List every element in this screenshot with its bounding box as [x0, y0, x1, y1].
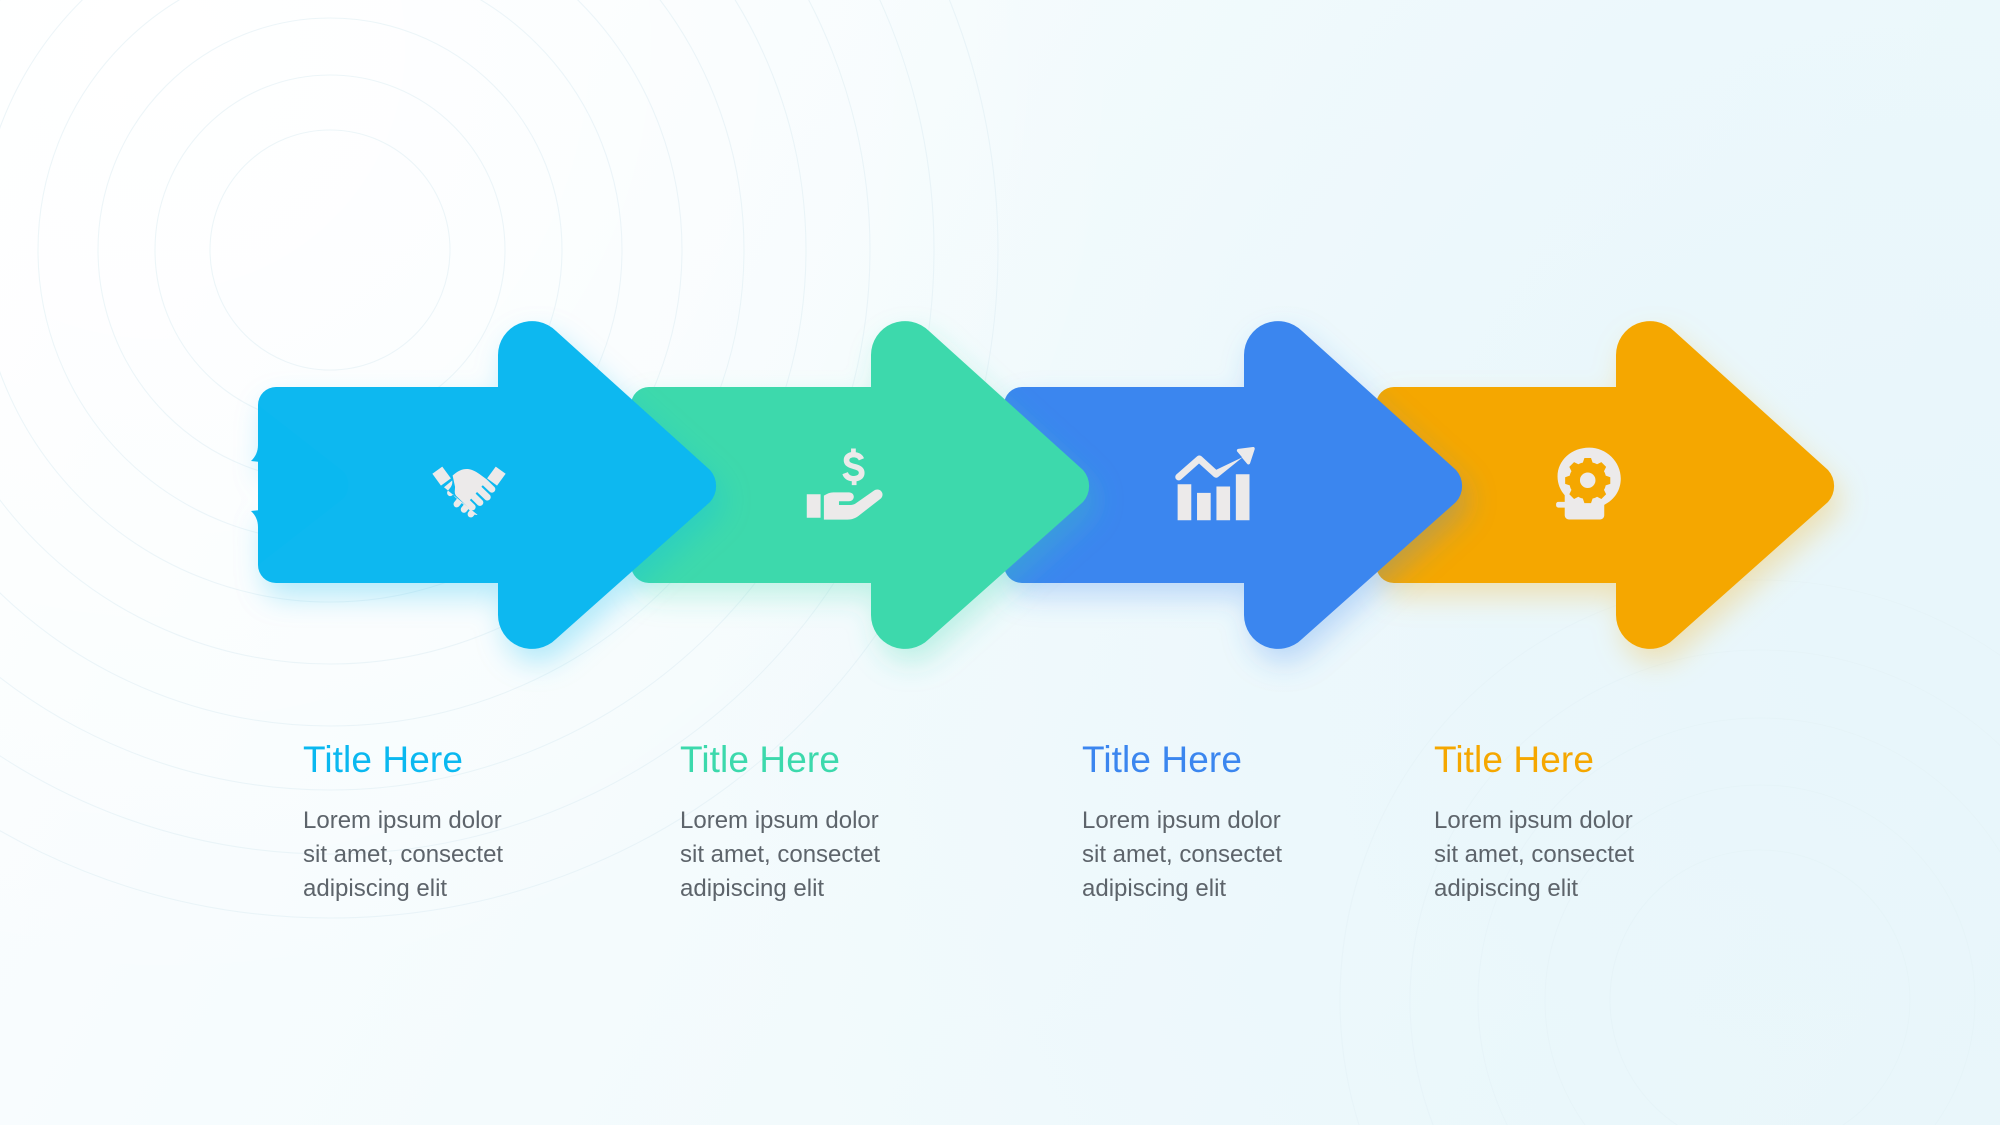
caption-body-line: adipiscing elit [303, 872, 553, 906]
caption-block-2: Title Here Lorem ipsum dolor sit amet, c… [680, 740, 980, 906]
caption-body-4: Lorem ipsum dolor sit amet, consectet ad… [1434, 804, 1684, 906]
caption-body-line: adipiscing elit [680, 872, 930, 906]
caption-body-line: sit amet, consectet [303, 838, 553, 872]
infographic-canvas: Title Here Lorem ipsum dolor sit amet, c… [0, 0, 2000, 1125]
caption-body-line: sit amet, consectet [680, 838, 930, 872]
caption-body-3: Lorem ipsum dolor sit amet, consectet ad… [1082, 804, 1332, 906]
process-arrow-1[interactable] [240, 330, 720, 640]
caption-body-line: adipiscing elit [1434, 872, 1684, 906]
caption-body-line: Lorem ipsum dolor [1434, 804, 1684, 838]
caption-body-line: adipiscing elit [1082, 872, 1332, 906]
caption-title-2: Title Here [680, 740, 980, 780]
caption-body-line: Lorem ipsum dolor [680, 804, 930, 838]
caption-row: Title Here Lorem ipsum dolor sit amet, c… [0, 740, 2000, 960]
caption-title-1: Title Here [303, 740, 603, 780]
caption-body-line: sit amet, consectet [1082, 838, 1332, 872]
caption-body-2: Lorem ipsum dolor sit amet, consectet ad… [680, 804, 930, 906]
caption-body-line: Lorem ipsum dolor [303, 804, 553, 838]
caption-block-4: Title Here Lorem ipsum dolor sit amet, c… [1434, 740, 1734, 906]
caption-body-line: sit amet, consectet [1434, 838, 1684, 872]
process-arrow-row [0, 330, 2000, 640]
caption-block-1: Title Here Lorem ipsum dolor sit amet, c… [303, 740, 603, 906]
caption-title-4: Title Here [1434, 740, 1734, 780]
caption-body-1: Lorem ipsum dolor sit amet, consectet ad… [303, 804, 553, 906]
caption-body-line: Lorem ipsum dolor [1082, 804, 1332, 838]
caption-block-3: Title Here Lorem ipsum dolor sit amet, c… [1082, 740, 1382, 906]
caption-title-3: Title Here [1082, 740, 1382, 780]
